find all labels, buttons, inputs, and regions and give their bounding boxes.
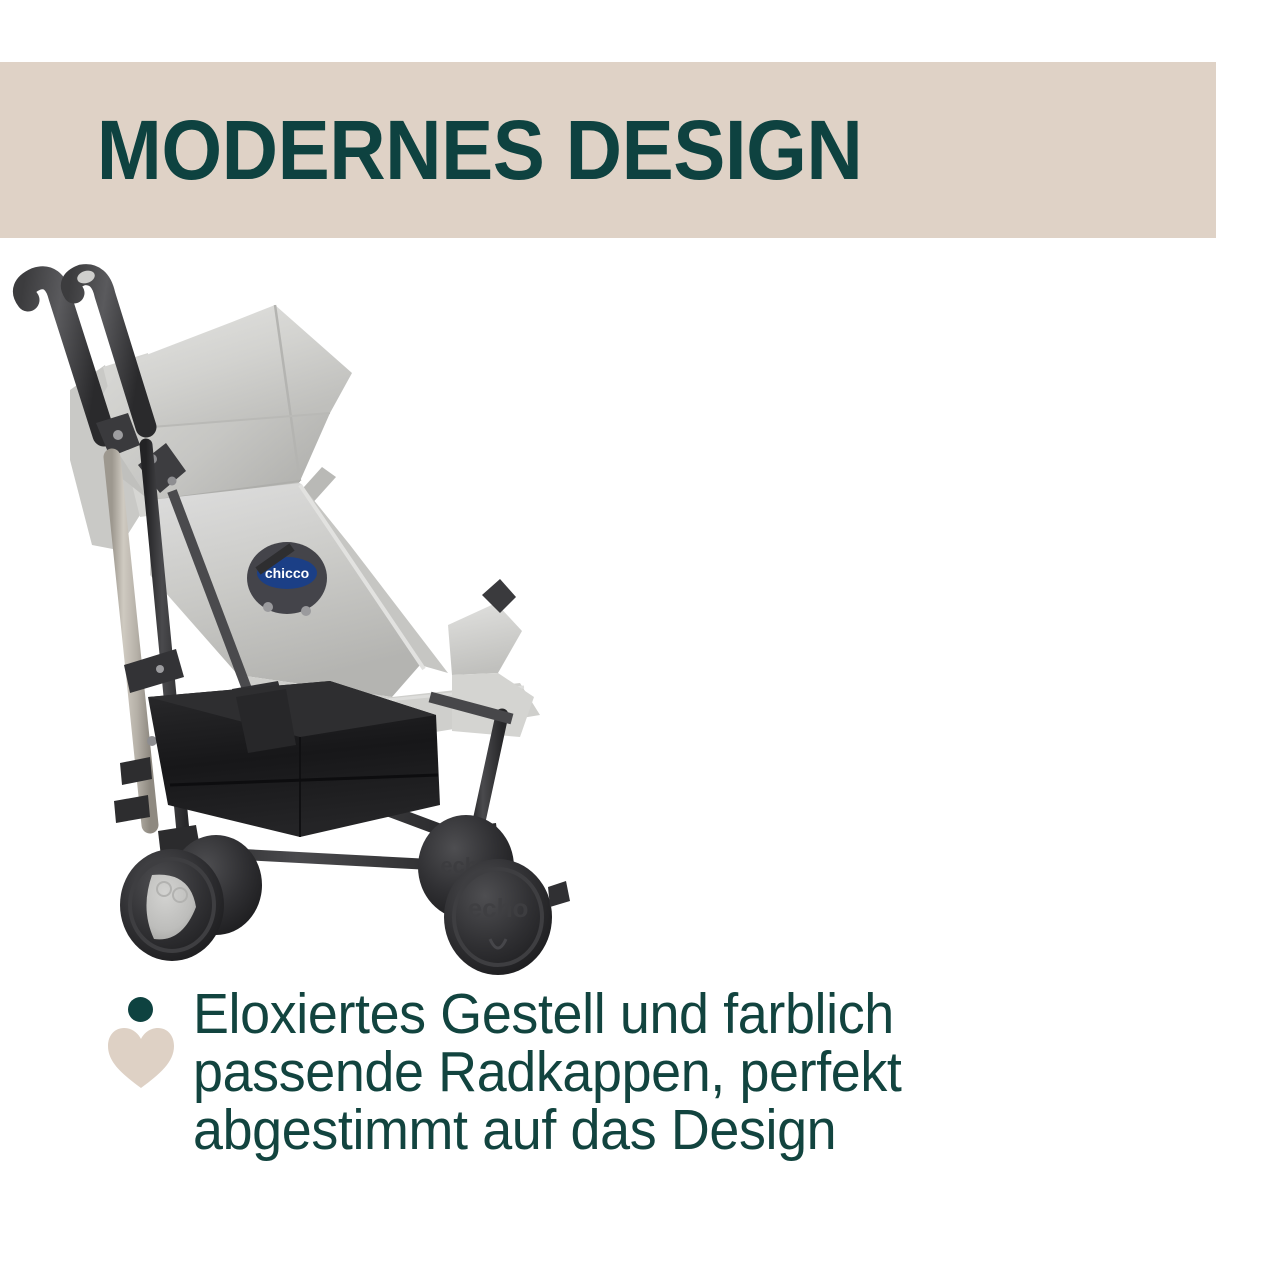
badge-rivet-left xyxy=(263,602,273,612)
canopy-top-panel xyxy=(120,305,352,427)
product-feature-card: MODERNES DESIGN Seitenansicht eines grau… xyxy=(0,0,1280,1280)
header-banner: MODERNES DESIGN xyxy=(0,62,1216,238)
person-body-heart-icon xyxy=(108,1028,174,1088)
rear-wheel-assembly: echo echo xyxy=(418,815,570,975)
front-wheel-assembly xyxy=(120,825,262,961)
page-title: MODERNES DESIGN xyxy=(0,108,862,192)
handle-joint-rivet xyxy=(113,430,123,440)
rear-outer-wheel-emboss: echo xyxy=(468,893,529,923)
storage-basket xyxy=(148,681,440,837)
parent-person-icon xyxy=(108,997,174,1089)
rear-swivel-lock xyxy=(548,881,570,907)
frame-clamp-rivet xyxy=(156,665,164,673)
footrest-upper xyxy=(448,603,522,675)
person-head-icon xyxy=(128,997,153,1022)
badge-rivet-right xyxy=(301,606,311,616)
feature-bullet: Eloxiertes Gestell und farblich passende… xyxy=(0,985,1280,1215)
logo-badge-text: chicco xyxy=(265,565,309,581)
handle-grip-left xyxy=(24,278,104,435)
stroller-illustration: Seitenansicht eines grauen Chicco Echo B… xyxy=(0,245,1280,980)
feature-description: Eloxiertes Gestell und farblich passende… xyxy=(193,985,940,1159)
product-image: Seitenansicht eines grauen Chicco Echo B… xyxy=(0,245,1280,980)
canopy-hinge-rivet-2 xyxy=(168,477,177,486)
